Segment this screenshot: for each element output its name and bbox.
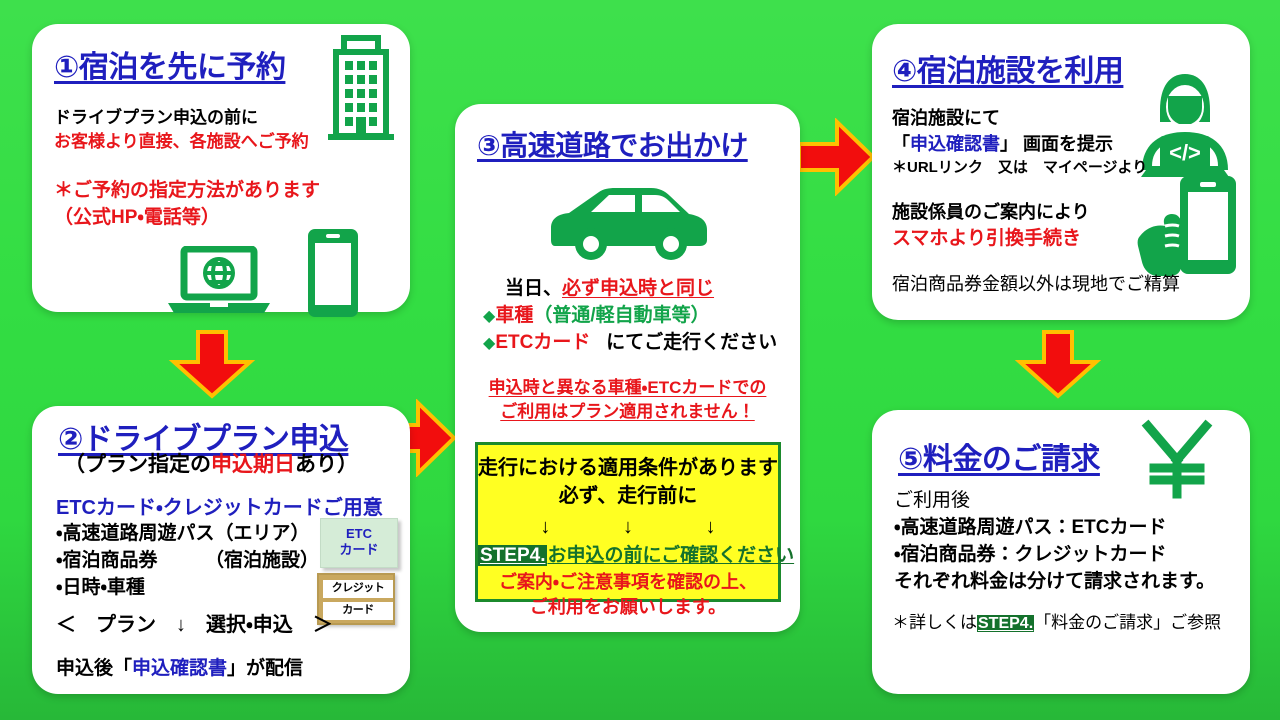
step5-step4-tag[interactable]: STEP4. [977,615,1034,632]
down-arrow-icon-2: ↓ [623,517,633,537]
step1-line-1: ドライブプラン申込の前に [54,106,309,130]
warn-line-1: 走行における適用条件があります [478,454,778,482]
step5-line-1: ご利用後 [894,488,1215,515]
arrow-step3-to-step4 [797,118,877,196]
step1-line-3: ＊ご予約の指定方法があります [54,178,320,205]
step3-same-black: 当日、 [505,278,562,299]
warn-line-2: 必ず、走行前に [478,482,778,510]
step4-line-6: 宿泊商品券金額以外は現地でご精算 [892,272,1180,298]
step2-footer-post: 」が配信 [227,658,303,679]
step2-subtitle-pre: （プラン指定の [64,453,211,476]
step2-bullet-list: ・高速道路周遊パス（エリア） ・宿泊商品券 （宿泊施設） ・日時・車種 [56,521,319,602]
credit-card-badge-line1: クレジット [323,580,393,598]
step2-footer-pre: 申込後「 [56,658,132,679]
step5-footnote[interactable]: ＊詳しくはSTEP4.「料金のご請求」ご参照 [892,608,1221,633]
step3-same-block: 当日、必ず申込時と同じ ◆車種（普通/軽自動車等） ◆ETCカード にてご走行く… [483,276,777,357]
warn-step-link-row[interactable]: STEP4.お申込の前にご確認ください [478,540,778,567]
card-step1: ①宿泊を先に予約 ドライブプラン申込の前に お客様より直接、各施設へご予約 ＊ご… [32,24,410,312]
step4-link-text[interactable]: お申込の前にご確認ください [547,545,794,566]
step1-line-2: お客様より直接、各施設へご予約 [54,130,309,154]
step2-bullet-3: ・日時・車種 [56,575,319,602]
step4-line-5: スマホより引換手続き [892,226,1090,253]
step2-bullet-2: ・宿泊商品券 （宿泊施設） [56,548,319,575]
step5-body: ご利用後 ・高速道路周遊パス：ETCカード ・宿泊商品券：クレジットカード それ… [894,488,1215,596]
step3-caution: 申込時と異なる車種・ETCカードでの ご利用はプラン適用されません！ [475,376,780,424]
step3-caution-line-2: ご利用はプラン適用されません！ [475,400,780,424]
infographic-root: { "theme": { "background_green": "#33dd4… [0,0,1280,720]
step3-bullet2-red: ETCカード [495,332,590,353]
step2-flow-line: ＜ プラン ↓ 選択・申込 ＞ [56,611,333,639]
step5-line-4: それぞれ料金は分けて請求されます。 [894,569,1215,596]
warn-note-line-1: ご案内・ご注意事項を確認の上、 [478,570,778,596]
etc-card-badge: ETC カード [320,518,398,568]
card-step5: ⑤料金のご請求 ご利用後 ・高速道路周遊パス：ETCカード ・宿泊商品券：クレジ… [872,410,1250,694]
warn-note-line-2: ご利用をお願いします。 [478,595,778,621]
step4-line-4: 施設係員のご案内により [892,200,1090,226]
step2-bullet-1: ・高速道路周遊パス（エリア） [56,521,319,548]
diamond-bullet-icon: ◆ [483,308,495,325]
down-arrow-icon-1: ↓ [540,517,550,537]
step2-footer-blue: 申込確認書 [132,658,227,679]
credit-card-badge-line2: カード [323,602,393,620]
step5-line-2: ・高速道路周遊パス：ETCカード [894,515,1215,542]
step5-footnote-pre: ＊詳しくは [892,613,977,632]
card-step3: ③高速道路でお出かけ 当日、必ず申込時と同じ ◆車種（普通/軽自動車等） ◆ET… [455,104,800,632]
card-step1-title: ①宿泊を先に予約 [54,42,285,86]
step5-footnote-post: 「料金のご請求」ご参照 [1034,613,1221,632]
step4-line2-blue: 申込確認書 [910,134,1000,154]
car-icon [543,182,713,264]
step4-body-mid: 施設係員のご案内により スマホより引換手続き [892,200,1090,253]
svg-text:</>: </> [1169,140,1201,165]
step2-subtitle-post: あり） [295,453,358,476]
step3-bullet1-red: 車種 [495,305,533,326]
step3-same-line: 当日、必ず申込時と同じ [505,276,777,303]
step4-line2-pre: 「 [892,134,910,154]
card-step2: ②ドライブプラン申込 （プラン指定の申込期日あり） ETCカード・クレジットカー… [32,406,410,694]
arrow-step4-to-step5 [1012,330,1104,400]
step3-bullet-1: ◆車種（普通/軽自動車等） [483,303,777,330]
diamond-bullet-icon-2: ◆ [483,335,495,352]
step4-line-2: 「申込確認書」 画面を提示 [892,132,1147,158]
step4-line2-post: 」 画面を提示 [1000,134,1113,154]
card-step3-title: ③高速道路でお出かけ [477,124,748,164]
laptop-globe-icon [166,246,272,318]
card-step4-title: ④宿泊施設を利用 [892,46,1123,90]
step3-bullet2-black: にてご走行ください [606,332,777,353]
card-step4: ④宿泊施設を利用 </> 宿泊施設にて 「申込確認書」 画面を提示 [872,24,1250,320]
step4-body-top: 宿泊施設にて 「申込確認書」 画面を提示 ＊URLリンク 又は マイページより [892,106,1147,178]
step2-footer: 申込後「申込確認書」が配信 [56,656,303,683]
step4-line-1: 宿泊施設にて [892,106,1147,132]
step5-line-3: ・宿泊商品券：クレジットカード [894,542,1215,569]
step2-subtitle-red: 申込期日 [211,453,295,476]
card-step1-body: ドライブプラン申込の前に お客様より直接、各施設へご予約 [54,106,309,154]
step3-bullet-2: ◆ETCカード にてご走行ください [483,330,777,357]
arrow-step1-to-step2 [166,330,258,400]
card-step1-note: ＊ご予約の指定方法があります （公式HP・電話等） [54,178,320,232]
step1-line-4: （公式HP・電話等） [54,205,320,232]
etc-card-badge-line1: ETC [321,526,397,542]
step3-caution-line-1: 申込時と異なる車種・ETCカードでの [475,376,780,400]
step3-warning-box: 走行における適用条件があります 必ず、走行前に ↓ ↓ ↓ STEP4.お申込の… [475,442,781,602]
card-step2-subtitle: （プラン指定の申込期日あり） [64,450,358,480]
step3-bullet1-green: （普通/軽自動車等） [533,305,709,326]
step4-tag[interactable]: STEP4. [478,545,547,566]
warn-arrow-row: ↓ ↓ ↓ [478,517,778,537]
step4-line-3: ＊URLリンク 又は マイページより [892,157,1147,178]
down-arrow-icon-3: ↓ [706,517,716,537]
card-step5-title: ⑤料金のご請求 [898,434,1100,478]
step3-same-red: 必ず申込時と同じ [562,278,714,299]
building-icon [322,34,400,142]
smartphone-icon [304,226,362,320]
etc-card-badge-line2: カード [321,542,397,558]
